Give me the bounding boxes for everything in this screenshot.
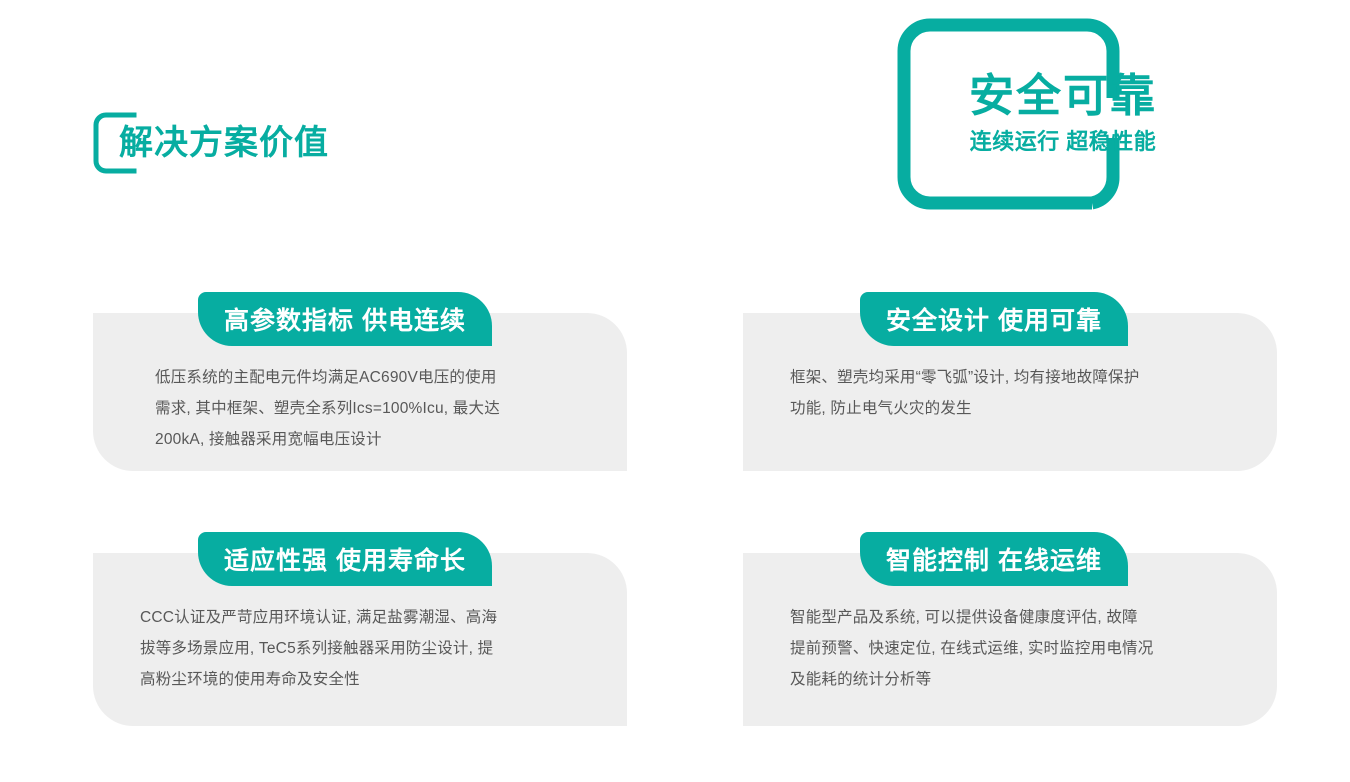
page-title: 解决方案价值	[119, 126, 329, 160]
badge-headline: 安全可靠	[969, 72, 1157, 121]
card-body-smart-control: 智能型产品及系统, 可以提供设备健康度评估, 故障 提前预警、快速定位, 在线式…	[790, 602, 1240, 695]
card-header-safe-design: 安全设计 使用可靠	[860, 292, 1128, 346]
badge-safe-reliable: 安全可靠 连续运行 超稳性能	[897, 18, 1181, 210]
card-header-high-parameter: 高参数指标 供电连续	[198, 292, 492, 346]
section-title: 解决方案价值	[93, 112, 329, 174]
badge-text-block: 安全可靠 连续运行 超稳性能	[897, 18, 1181, 210]
badge-subline: 连续运行 超稳性能	[970, 124, 1157, 156]
card-body-adaptability: CCC认证及严苛应用环境认证, 满足盐雾潮湿、高海 拔等多场景应用, TeC5系…	[140, 602, 590, 695]
card-header-smart-control: 智能控制 在线运维	[860, 532, 1128, 586]
card-body-high-parameter: 低压系统的主配电元件均满足AC690V电压的使用 需求, 其中框架、塑壳全系列I…	[155, 362, 585, 455]
solution-value-page: 解决方案价值 安全可靠 连续运行 超稳性能 低压系统的主配电元件均满足AC690…	[0, 0, 1350, 782]
bracket-open-right-icon	[93, 112, 137, 174]
card-body-safe-design: 框架、塑壳均采用“零飞弧”设计, 均有接地故障保护 功能, 防止电气火灾的发生	[790, 362, 1230, 424]
card-header-adaptability: 适应性强 使用寿命长	[198, 532, 492, 586]
